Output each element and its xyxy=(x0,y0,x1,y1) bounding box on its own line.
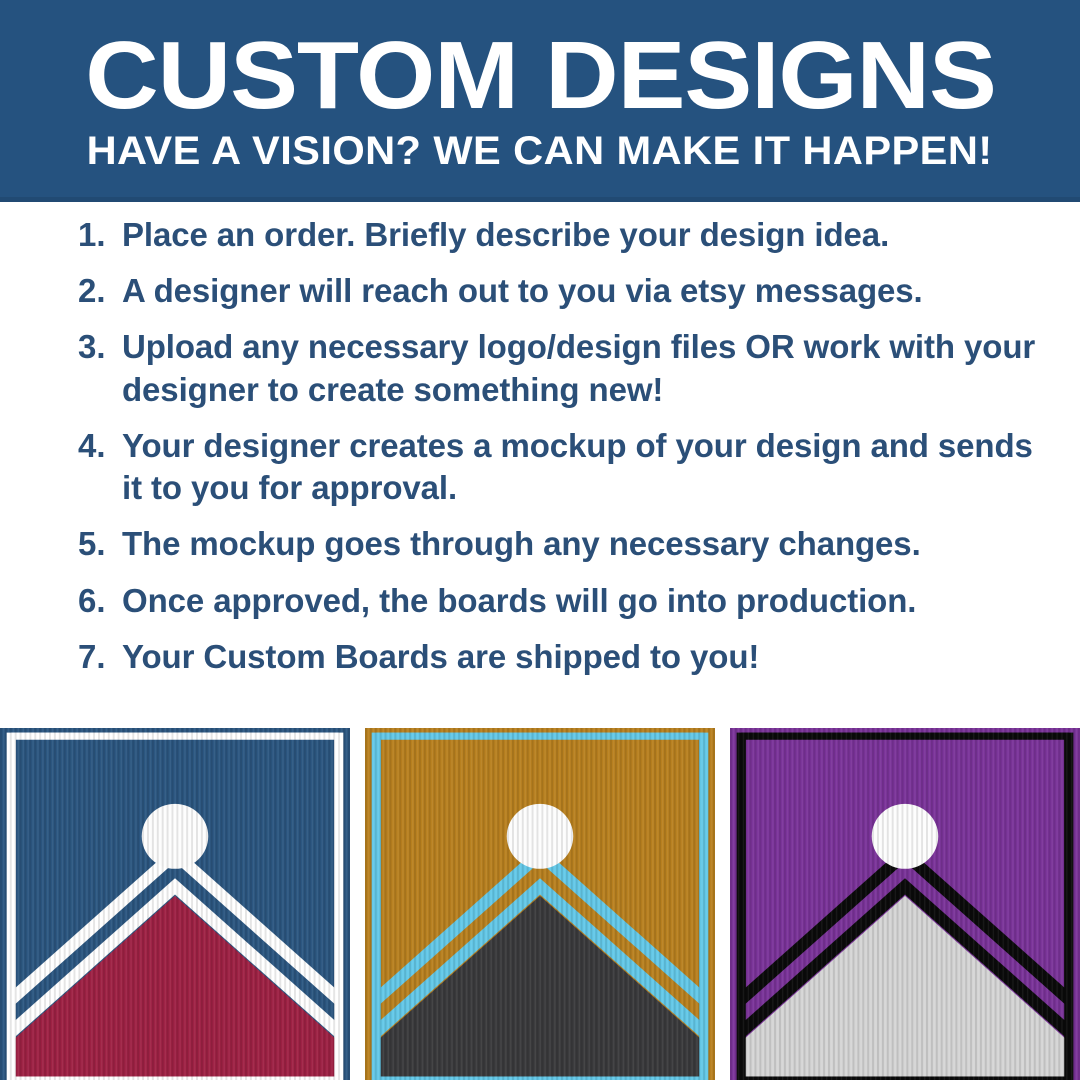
step-text: Your Custom Boards are shipped to you! xyxy=(122,636,1040,678)
wood-grain-overlay xyxy=(365,728,715,1080)
board-artwork xyxy=(730,728,1080,1080)
step-number: 4. xyxy=(78,425,122,467)
step-item: 1.Place an order. Briefly describe your … xyxy=(0,214,1080,256)
page-title: CUSTOM DESIGNS xyxy=(85,30,996,124)
board-artwork xyxy=(365,728,715,1080)
step-item: 2.A designer will reach out to you via e… xyxy=(0,270,1080,312)
blue-red-cornhole-board[interactable] xyxy=(0,728,350,1080)
step-item: 4.Your designer creates a mockup of your… xyxy=(0,425,1080,509)
board-artwork xyxy=(0,728,350,1080)
step-item: 3.Upload any necessary logo/design files… xyxy=(0,326,1080,410)
step-text: Upload any necessary logo/design files O… xyxy=(122,326,1040,410)
step-number: 2. xyxy=(78,270,122,312)
orange-blue-cornhole-board[interactable] xyxy=(365,728,715,1080)
step-text: Place an order. Briefly describe your de… xyxy=(122,214,1040,256)
cornhole-boards-row xyxy=(0,728,1080,1080)
step-text: Once approved, the boards will go into p… xyxy=(122,580,1040,622)
step-item: 7.Your Custom Boards are shipped to you! xyxy=(0,636,1080,678)
step-item: 6.Once approved, the boards will go into… xyxy=(0,580,1080,622)
steps-list: 1.Place an order. Briefly describe your … xyxy=(0,214,1080,692)
step-number: 3. xyxy=(78,326,122,368)
step-number: 5. xyxy=(78,523,122,565)
step-text: A designer will reach out to you via ets… xyxy=(122,270,1040,312)
wood-grain-overlay xyxy=(730,728,1080,1080)
step-item: 5.The mockup goes through any necessary … xyxy=(0,523,1080,565)
purple-black-cornhole-board[interactable] xyxy=(730,728,1080,1080)
header-banner: CUSTOM DESIGNS HAVE A VISION? WE CAN MAK… xyxy=(0,0,1080,202)
step-text: The mockup goes through any necessary ch… xyxy=(122,523,1040,565)
page-subtitle: HAVE A VISION? WE CAN MAKE IT HAPPEN! xyxy=(87,124,993,172)
step-number: 6. xyxy=(78,580,122,622)
step-text: Your designer creates a mockup of your d… xyxy=(122,425,1040,509)
step-number: 7. xyxy=(78,636,122,678)
step-number: 1. xyxy=(78,214,122,256)
wood-grain-overlay xyxy=(0,728,350,1080)
